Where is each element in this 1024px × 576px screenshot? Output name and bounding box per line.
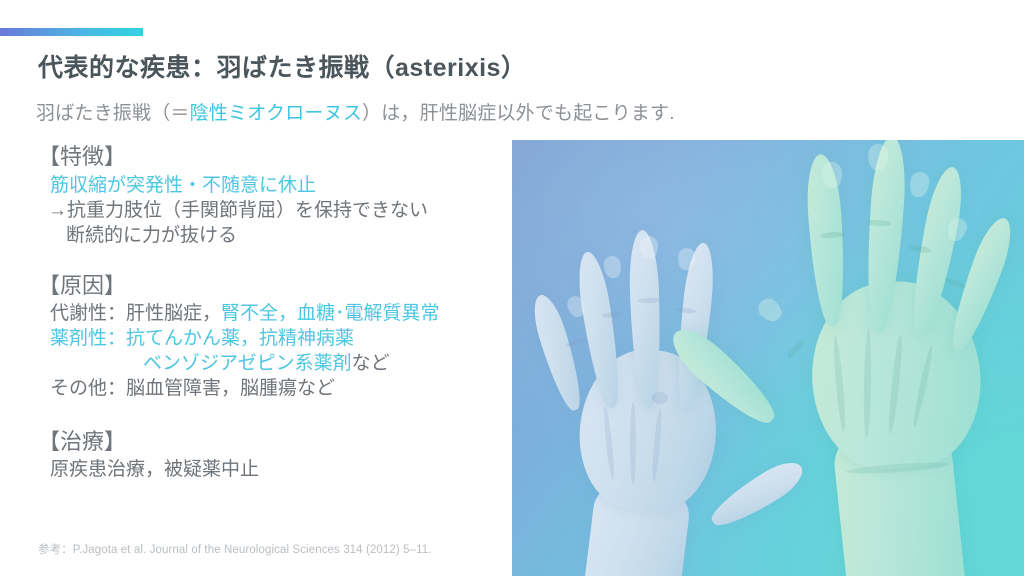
left-knuckle-group bbox=[652, 392, 668, 404]
slide-subtitle: 羽ばたき振戦（＝陰性ミオクローヌス）は，肝性脳症以外でも起こります. bbox=[36, 98, 675, 125]
right-nail-thumb bbox=[754, 295, 785, 326]
left-crease-1 bbox=[566, 337, 587, 348]
right-nail-index bbox=[821, 161, 843, 188]
cause-benzo-suffix: など bbox=[352, 353, 390, 374]
subtitle-pre: 羽ばたき振戦（＝ bbox=[36, 103, 190, 124]
right-hand-illustration bbox=[712, 140, 1024, 576]
section-heading-causes: 【原因】 bbox=[38, 272, 508, 300]
cause-line-other: その他：脳血管障害，脳腫瘍など bbox=[38, 376, 508, 401]
content-column: 【特徴】 筋収縮が突発性・不随意に休止 →抗重力肢位（手関節背屈）を保持できない… bbox=[38, 143, 508, 482]
cause-metabolic-highlight: 腎不全，血糖･電解質異常 bbox=[221, 303, 440, 324]
feature-line-2: →抗重力肢位（手関節背屈）を保持できない bbox=[38, 198, 508, 223]
cause-metabolic-plain: 肝性脳症， bbox=[126, 303, 221, 324]
left-tendon-2 bbox=[630, 402, 636, 484]
cause-metabolic-label: 代謝性： bbox=[50, 303, 126, 324]
right-crease-little bbox=[944, 276, 967, 289]
subtitle-post: ）は，肝性脳症以外でも起こります. bbox=[362, 103, 675, 124]
section-heading-treatment: 【治療】 bbox=[38, 428, 508, 456]
treatment-line-1: 原疾患治療，被疑薬中止 bbox=[38, 457, 508, 482]
reference-citation: 参考：P.Jagota et al. Journal of the Neurol… bbox=[38, 541, 432, 557]
page-title: 代表的な疾患：羽ばたき振戦（asterixis） bbox=[38, 48, 526, 84]
feature-line-3: 断続的に力が抜ける bbox=[38, 223, 508, 248]
spacer-causes-treatment bbox=[38, 402, 508, 428]
cause-benzo-highlight: ベンゾジアゼピン系薬剤 bbox=[143, 353, 352, 374]
left-nail-ring bbox=[602, 255, 622, 279]
subtitle-highlight: 陰性ミオクローヌス bbox=[190, 103, 362, 124]
slide-root: 代表的な疾患：羽ばたき振戦（asterixis） 羽ばたき振戦（＝陰性ミオクロー… bbox=[0, 0, 1024, 576]
right-nail-ring bbox=[908, 170, 931, 198]
section-heading-features: 【特徴】 bbox=[38, 143, 508, 171]
feature-line-1: 筋収縮が突発性・不随意に休止 bbox=[38, 173, 508, 198]
right-crease-thumb bbox=[786, 338, 807, 360]
cause-line-metabolic: 代謝性：肝性脳症，腎不全，血糖･電解質異常 bbox=[38, 301, 508, 326]
spacer-features-causes bbox=[38, 248, 508, 272]
cause-line-drug: 薬剤性：抗てんかん薬，抗精神病薬 bbox=[38, 326, 508, 351]
left-nail-middle bbox=[640, 236, 659, 260]
asterixis-hands-photo: 28 bbox=[512, 140, 1024, 576]
accent-gradient-bar bbox=[0, 28, 143, 36]
cause-line-benzo: ベンゾジアゼピン系薬剤など bbox=[38, 351, 508, 376]
